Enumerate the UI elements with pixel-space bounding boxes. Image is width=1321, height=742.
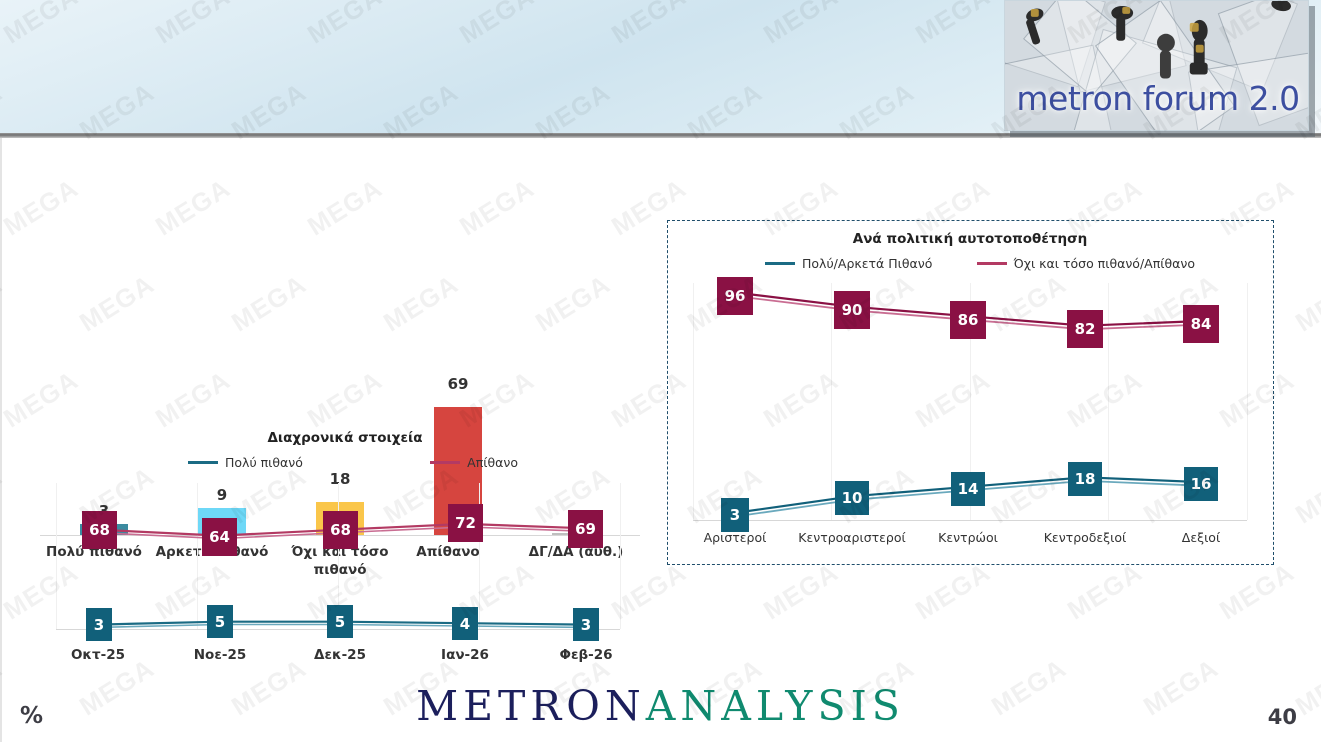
logo-wordmark: metron forum 2.0 [1013,79,1303,118]
pol-label-teal-1: 10 [835,481,869,515]
timeseries-label-teal-0: 3 [86,608,112,641]
chart-by-political-self-placement: Ανά πολιτική αυτοτοποθέτηση Πολύ/Αρκετά … [667,220,1274,565]
chart-timeseries: Διαχρονικά στοιχεία Πολύ πιθανό Απίθανο … [40,425,640,670]
pol-label-maroon-3: 82 [1067,310,1103,348]
watermark-text: MEGA [758,557,844,627]
timeseries-label-maroon-3: 72 [448,504,483,542]
slide-left-edge [0,137,2,742]
pol-label-maroon-1: 90 [834,291,870,329]
pol-label-maroon-0: 96 [717,277,753,315]
watermark-text: MEGA [1290,461,1321,531]
watermark-text: MEGA [910,557,996,627]
watermark-text: MEGA [1290,269,1321,339]
pol-label-teal-2: 14 [951,472,985,506]
metron-forum-logo: metron forum 2.0 [1004,0,1309,131]
page-number: 40 [1268,705,1297,729]
pol-lines [667,220,1274,565]
timeseries-label-maroon-0: 68 [82,511,117,549]
pol-label-teal-0: 3 [721,498,749,532]
timeseries-label-teal-1: 5 [207,605,233,638]
timeseries-label-maroon-1: 64 [202,518,237,556]
timeseries-label-maroon-2: 68 [323,511,358,549]
percent-unit-label: % [20,703,43,729]
wordmark-analysis: ANALYSIS [646,682,905,730]
watermark-text: MEGA [1214,557,1300,627]
wordmark-metron: METRON [416,682,646,730]
timeseries-label-maroon-4: 69 [568,510,603,548]
chart-main-bars: 3 9 18 69 1 Πολύ πιθανό Αρκετά πιθανό Όχ… [40,180,640,405]
pol-label-maroon-2: 86 [950,301,986,339]
pol-label-teal-3: 18 [1068,462,1102,496]
metron-analysis-wordmark: METRONANALYSIS [0,682,1321,730]
pol-label-maroon-4: 84 [1183,305,1219,343]
pol-label-teal-4: 16 [1184,467,1218,501]
bar-value-3: 69 [428,375,488,393]
timeseries-label-teal-2: 5 [327,605,353,638]
watermark-text: MEGA [1062,557,1148,627]
timeseries-label-teal-3: 4 [452,607,478,640]
timeseries-label-teal-4: 3 [573,608,599,641]
